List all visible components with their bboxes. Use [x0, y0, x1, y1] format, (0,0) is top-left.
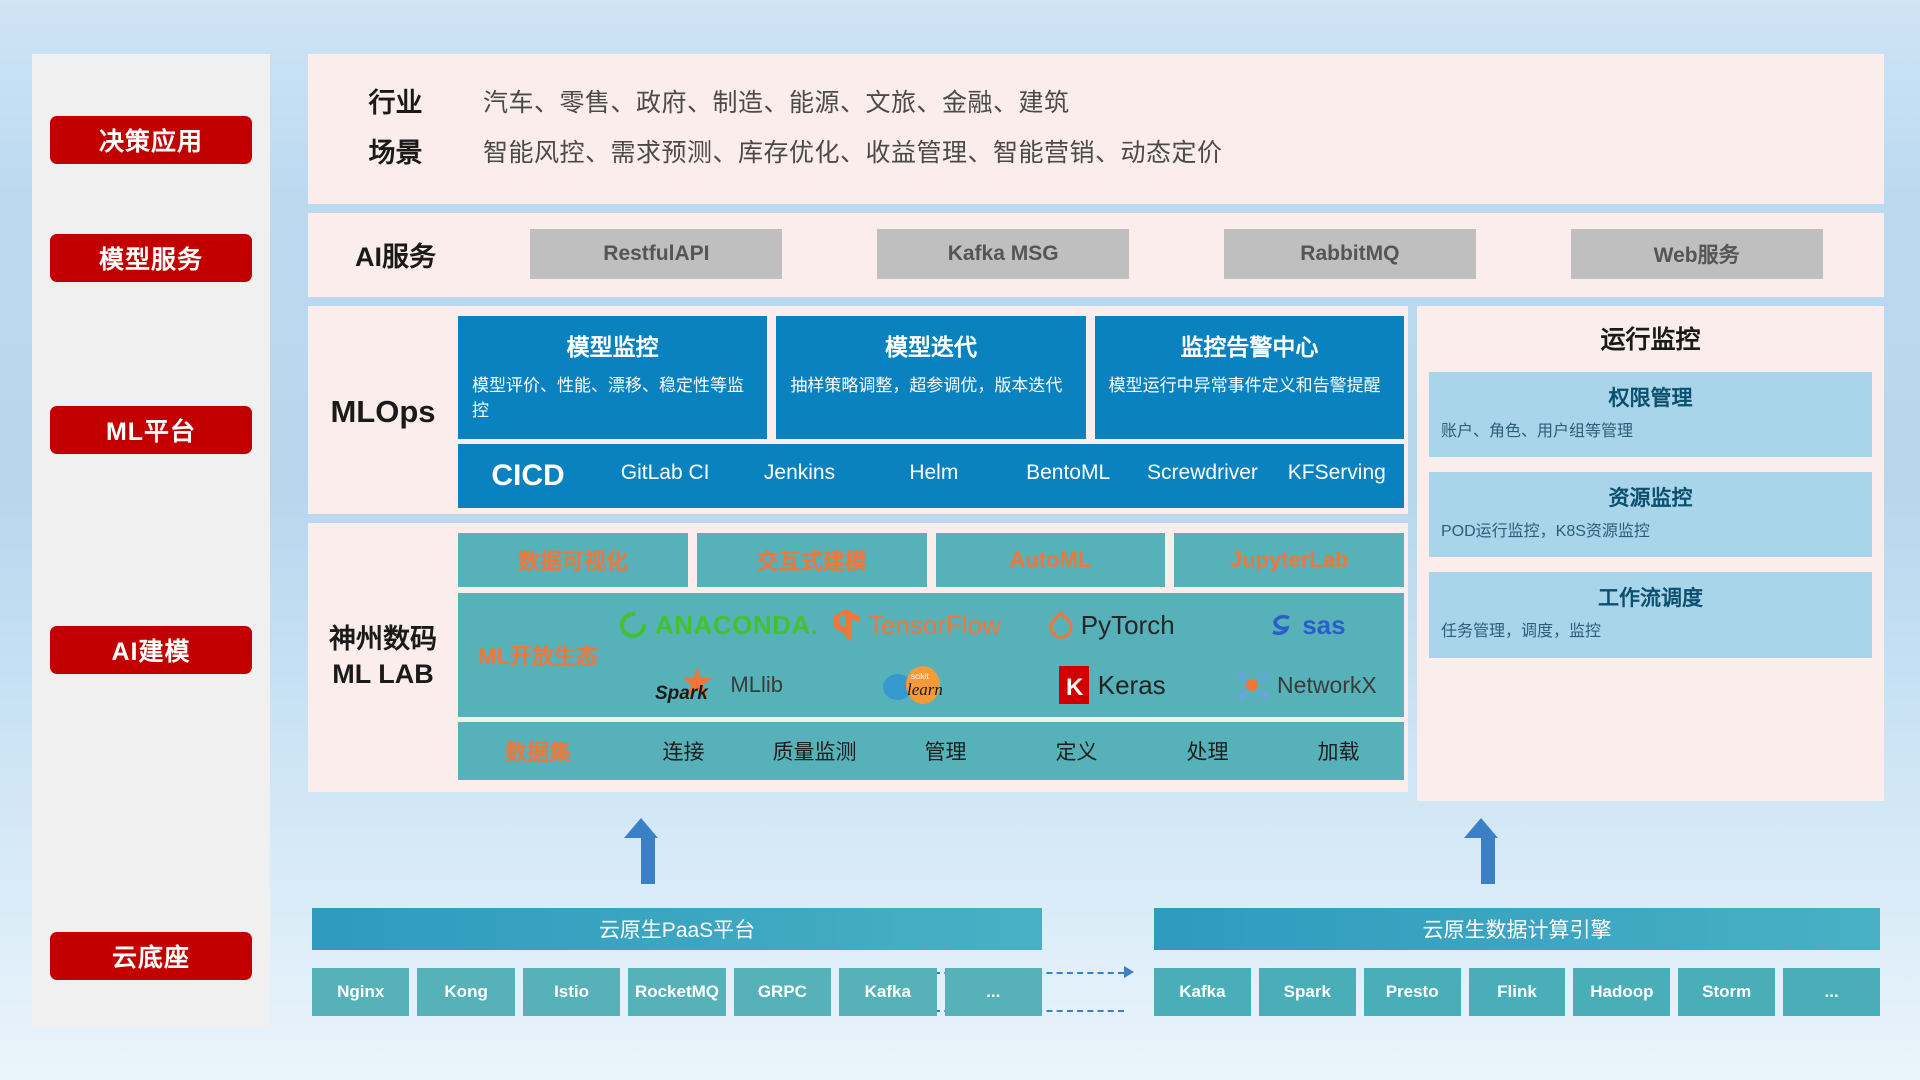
card-title: 模型监控	[472, 328, 753, 362]
cloud-data-engine-chips: Kafka Spark Presto Flink Hadoop Storm ..…	[1154, 968, 1880, 1016]
anaconda-logo: ANACONDA.	[618, 595, 818, 655]
spark-mllib-logo: Spark MLlib	[618, 655, 818, 715]
runtime-monitoring-column: 运行监控 权限管理 账户、角色、用户组等管理 资源监控 POD运行监控，K8S资…	[1417, 306, 1884, 801]
card-desc: 账户、角色、用户组等管理	[1441, 420, 1860, 443]
cloud-paas-column: 云原生PaaS平台 Nginx Kong Istio RocketMQ GRPC…	[312, 908, 1042, 1016]
cicd-item-jenkins[interactable]: Jenkins	[732, 462, 866, 483]
card-desc: 模型运行中异常事件定义和告警提醒	[1109, 374, 1390, 399]
dataset-item-load[interactable]: 加载	[1273, 736, 1404, 766]
rail-item-label: 模型服务	[99, 240, 203, 276]
rail-item-label: AI建模	[111, 632, 190, 668]
ai-service-label: AI服务	[308, 235, 483, 274]
ml-lab-body: 数据可视化 交互式建模 AutoML JupyterLab ML开放生态 ANA…	[458, 533, 1408, 780]
industry-scenario-band: 行业 汽车、零售、政府、制造、能源、文旅、金融、建筑 场景 智能风控、需求预测、…	[308, 54, 1884, 204]
ml-lab-label-line2: ML LAB	[332, 657, 434, 692]
cloud-base-section: 云原生PaaS平台 Nginx Kong Istio RocketMQ GRPC…	[308, 880, 1884, 1030]
card-title: 权限管理	[1441, 382, 1860, 412]
dataset-item-manage[interactable]: 管理	[880, 736, 1011, 766]
engine-chip-presto[interactable]: Presto	[1364, 968, 1461, 1016]
mlops-body: 模型监控 模型评价、性能、漂移、稳定性等监控 模型迭代 抽样策略调整，超参调优，…	[458, 316, 1408, 508]
cicd-item-screwdriver[interactable]: Screwdriver	[1135, 462, 1269, 483]
svg-text:learn: learn	[907, 680, 943, 699]
engine-chip-kafka[interactable]: Kafka	[1154, 968, 1251, 1016]
engine-chip-storm[interactable]: Storm	[1678, 968, 1775, 1016]
rail-item-label: ML平台	[106, 412, 196, 448]
cicd-item-kfserving[interactable]: KFServing	[1270, 462, 1404, 483]
card-title: 监控告警中心	[1109, 328, 1390, 362]
tensorflow-logo: TensorFlow	[818, 595, 1013, 655]
mlops-band: MLOps 模型监控 模型评价、性能、漂移、稳定性等监控 模型迭代 抽样策略调整…	[308, 306, 1408, 514]
service-kafka-msg[interactable]: Kafka MSG	[877, 229, 1129, 279]
svg-text:K: K	[1066, 674, 1084, 701]
cloud-data-engine-title: 云原生数据计算引擎	[1154, 908, 1880, 950]
rail-item-label: 决策应用	[99, 122, 203, 158]
anaconda-logo-text: ANACONDA.	[655, 610, 818, 641]
tool-data-visualization[interactable]: 数据可视化	[458, 533, 688, 587]
industry-key: 行业	[308, 80, 483, 126]
card-title: 模型迭代	[790, 328, 1071, 362]
service-slot: Web服务	[1523, 229, 1870, 279]
platform-section: MLOps 模型监控 模型评价、性能、漂移、稳定性等监控 模型迭代 抽样策略调整…	[308, 306, 1884, 801]
engine-chip-more[interactable]: ...	[1783, 968, 1880, 1016]
service-restful-api[interactable]: RestfulAPI	[530, 229, 782, 279]
cicd-item-gitlab-ci[interactable]: GitLab CI	[598, 462, 732, 483]
cicd-item-helm[interactable]: Helm	[867, 462, 1001, 483]
ai-service-band: AI服务 RestfulAPI Kafka MSG RabbitMQ Web服务	[308, 213, 1884, 297]
cloud-paas-chips: Nginx Kong Istio RocketMQ GRPC Kafka ...	[312, 968, 1042, 1016]
service-web[interactable]: Web服务	[1571, 229, 1823, 279]
cicd-title: CICD	[458, 459, 598, 493]
cloud-chip-rocketmq[interactable]: RocketMQ	[628, 968, 725, 1016]
ai-service-items: RestfulAPI Kafka MSG RabbitMQ Web服务	[483, 229, 1884, 279]
pytorch-logo-text: PyTorch	[1081, 610, 1175, 641]
platform-left-column: MLOps 模型监控 模型评价、性能、漂移、稳定性等监控 模型迭代 抽样策略调整…	[308, 306, 1408, 801]
service-rabbitmq[interactable]: RabbitMQ	[1224, 229, 1476, 279]
keras-logo-text: Keras	[1098, 670, 1166, 701]
ml-tool-row: 数据可视化 交互式建模 AutoML JupyterLab	[458, 533, 1404, 587]
card-desc: 任务管理，调度，监控	[1441, 620, 1860, 643]
rail-item-cloud-base[interactable]: 云底座	[50, 932, 252, 980]
engine-chip-flink[interactable]: Flink	[1469, 968, 1566, 1016]
service-slot: Kafka MSG	[830, 229, 1177, 279]
card-desc: 模型评价、性能、漂移、稳定性等监控	[472, 374, 753, 423]
ml-ecosystem-label: ML开放生态	[458, 639, 618, 671]
rail-item-model-service[interactable]: 模型服务	[50, 234, 252, 282]
mlops-cards: 模型监控 模型评价、性能、漂移、稳定性等监控 模型迭代 抽样策略调整，超参调优，…	[458, 316, 1404, 439]
architecture-main: 行业 汽车、零售、政府、制造、能源、文旅、金融、建筑 场景 智能风控、需求预测、…	[308, 54, 1884, 801]
dataset-item-connect[interactable]: 连接	[618, 736, 749, 766]
dataset-item-define[interactable]: 定义	[1011, 736, 1142, 766]
scikit-learn-logo: scikit learn	[818, 655, 1013, 715]
rail-item-ai-modeling[interactable]: AI建模	[50, 626, 252, 674]
mlops-card-model-iteration[interactable]: 模型迭代 抽样策略调整，超参调优，版本迭代	[776, 316, 1085, 439]
cloud-paas-title: 云原生PaaS平台	[312, 908, 1042, 950]
tensorflow-logo-text: TensorFlow	[868, 610, 1001, 641]
cloud-chip-istio[interactable]: Istio	[523, 968, 620, 1016]
cloud-chip-nginx[interactable]: Nginx	[312, 968, 409, 1016]
scenario-value: 智能风控、需求预测、库存优化、收益管理、智能营销、动态定价	[483, 130, 1223, 176]
ai-modeling-band: 神州数码 ML LAB 数据可视化 交互式建模 AutoML JupyterLa…	[308, 523, 1408, 792]
service-slot: RabbitMQ	[1177, 229, 1524, 279]
engine-chip-hadoop[interactable]: Hadoop	[1573, 968, 1670, 1016]
ml-lab-label: 神州数码 ML LAB	[308, 533, 458, 780]
dataset-item-process[interactable]: 处理	[1142, 736, 1273, 766]
dataset-label: 数据集	[458, 735, 618, 767]
industry-value: 汽车、零售、政府、制造、能源、文旅、金融、建筑	[483, 80, 1070, 126]
rail-item-label: 云底座	[112, 938, 190, 974]
tool-interactive-modeling[interactable]: 交互式建模	[697, 533, 927, 587]
ml-lab-label-line1: 神州数码	[329, 622, 437, 657]
sas-logo: sas	[1209, 595, 1404, 655]
rail-item-decision-app[interactable]: 决策应用	[50, 116, 252, 164]
cloud-chip-kong[interactable]: Kong	[417, 968, 514, 1016]
cloud-chip-kafka[interactable]: Kafka	[839, 968, 936, 1016]
cicd-item-bentoml[interactable]: BentoML	[1001, 462, 1135, 483]
runtime-monitoring-title: 运行监控	[1429, 320, 1872, 356]
mlops-card-model-monitoring[interactable]: 模型监控 模型评价、性能、漂移、稳定性等监控	[458, 316, 767, 439]
tool-automl[interactable]: AutoML	[936, 533, 1166, 587]
engine-chip-spark[interactable]: Spark	[1259, 968, 1356, 1016]
stack-layer-rail: 决策应用 模型服务 ML平台 AI建模 云底座	[32, 54, 270, 1028]
industry-row: 行业 汽车、零售、政府、制造、能源、文旅、金融、建筑	[308, 80, 1884, 126]
svg-text:Spark: Spark	[655, 683, 709, 704]
ml-ecosystem-row: ML开放生态 ANACONDA. TensorFlow	[458, 593, 1404, 717]
monitor-card-permission[interactable]: 权限管理 账户、角色、用户组等管理	[1429, 372, 1872, 457]
pytorch-logo: PyTorch	[1014, 595, 1209, 655]
scenario-key: 场景	[308, 130, 483, 176]
networkx-logo-text: NetworkX	[1277, 672, 1377, 699]
cicd-strip: CICD GitLab CI Jenkins Helm BentoML Scre…	[458, 444, 1404, 508]
card-desc: POD运行监控，K8S资源监控	[1441, 520, 1860, 543]
mlops-label: MLOps	[308, 316, 458, 508]
dataset-item-quality-monitor[interactable]: 质量监测	[749, 736, 880, 766]
cloud-chip-more[interactable]: ...	[945, 968, 1042, 1016]
card-desc: 抽样策略调整，超参调优，版本迭代	[790, 374, 1071, 399]
cloud-data-engine-column: 云原生数据计算引擎 Kafka Spark Presto Flink Hadoo…	[1154, 908, 1880, 1016]
monitor-card-workflow[interactable]: 工作流调度 任务管理，调度，监控	[1429, 572, 1872, 657]
card-title: 资源监控	[1441, 482, 1860, 512]
spark-mllib-logo-text: MLlib	[730, 672, 783, 698]
runtime-monitoring-panel: 运行监控 权限管理 账户、角色、用户组等管理 资源监控 POD运行监控，K8S资…	[1417, 306, 1884, 801]
keras-logo: K Keras	[1014, 655, 1209, 715]
tool-jupyterlab[interactable]: JupyterLab	[1174, 533, 1404, 587]
card-title: 工作流调度	[1441, 582, 1860, 612]
mlops-card-alert-center[interactable]: 监控告警中心 模型运行中异常事件定义和告警提醒	[1095, 316, 1404, 439]
cloud-chip-grpc[interactable]: GRPC	[734, 968, 831, 1016]
scenario-row: 场景 智能风控、需求预测、库存优化、收益管理、智能营销、动态定价	[308, 130, 1884, 176]
sas-logo-text: sas	[1302, 610, 1345, 641]
service-slot: RestfulAPI	[483, 229, 830, 279]
dataset-row: 数据集 连接 质量监测 管理 定义 处理 加载	[458, 722, 1404, 780]
ml-ecosystem-logos: ANACONDA. TensorFlow PyTorch	[618, 595, 1404, 715]
monitor-card-resource[interactable]: 资源监控 POD运行监控，K8S资源监控	[1429, 472, 1872, 557]
networkx-logo: NetworkX	[1209, 655, 1404, 715]
rail-item-ml-platform[interactable]: ML平台	[50, 406, 252, 454]
